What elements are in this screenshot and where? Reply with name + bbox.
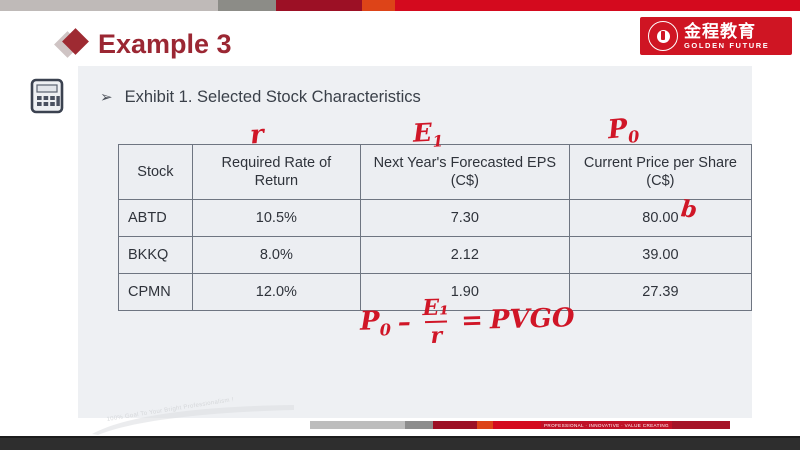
page-title: Example 3: [98, 31, 232, 58]
stock-characteristics-table: Stock Required Rate of Return Next Year'…: [118, 144, 752, 311]
arrow-bullet-icon: ➢: [100, 90, 113, 105]
table-header-row: Stock Required Rate of Return Next Year'…: [119, 145, 752, 200]
table-row: CPMN 12.0% 1.90 27.39: [119, 274, 752, 311]
bottom-black-strip: [0, 438, 800, 450]
footer-segment-dark-red: [433, 421, 477, 429]
cell-forecasted-eps: 7.30: [360, 200, 569, 237]
title-group: Example 3: [58, 29, 232, 59]
slide-footer: 100% Goal To Your Bright Professionalism…: [78, 418, 752, 438]
logo-english-name: GOLDEN FUTURE: [684, 42, 769, 50]
topbar-segment-bright-red: [395, 0, 800, 11]
table-header: Stock Required Rate of Return Next Year'…: [119, 145, 752, 200]
calculator-icon: [30, 78, 64, 114]
table-row: BKKQ 8.0% 2.12 39.00: [119, 237, 752, 274]
slide-content-panel: ➢ Exhibit 1. Selected Stock Characterist…: [78, 66, 752, 418]
cell-current-price: 27.39: [569, 274, 751, 311]
slide-canvas: Example 3 金程教育 GOLDEN FUTURE ➢ Exhi: [0, 0, 800, 450]
footer-segment-tail-red: [672, 421, 730, 429]
cell-current-price: 39.00: [569, 237, 751, 274]
footer-segment-bright-red: [493, 421, 541, 429]
top-color-bar: [0, 0, 800, 11]
cell-stock-ticker: BKKQ: [119, 237, 193, 274]
topbar-segment-orange-red: [362, 0, 395, 11]
footer-color-bar: PROFESSIONAL · INNOVATIVE · VALUE CREATI…: [310, 421, 730, 429]
logo-text-group: 金程教育 GOLDEN FUTURE: [684, 23, 769, 50]
footer-segment-light-gray: [310, 421, 405, 429]
diamond-bullet-icon: [58, 29, 88, 59]
exhibit-heading: Exhibit 1. Selected Stock Characteristic…: [125, 88, 421, 107]
column-header-forecasted-eps: Next Year's Forecasted EPS (C$): [360, 145, 569, 200]
cell-stock-ticker: ABTD: [119, 200, 193, 237]
column-header-stock: Stock: [119, 145, 193, 200]
cell-required-rate: 12.0%: [192, 274, 360, 311]
cell-required-rate: 8.0%: [192, 237, 360, 274]
table-body: ABTD 10.5% 7.30 80.00 BKKQ 8.0% 2.12 39.…: [119, 200, 752, 311]
footer-segment-mid-gray: [405, 421, 433, 429]
footer-tagline: PROFESSIONAL · INNOVATIVE · VALUE CREATI…: [541, 421, 672, 429]
cell-stock-ticker: CPMN: [119, 274, 193, 311]
table-row: ABTD 10.5% 7.30 80.00: [119, 200, 752, 237]
cell-forecasted-eps: 2.12: [360, 237, 569, 274]
topbar-segment-light-gray: [0, 0, 218, 11]
seal-icon: [648, 21, 678, 51]
footer-segment-orange: [477, 421, 493, 429]
cell-required-rate: 10.5%: [192, 200, 360, 237]
exhibit-heading-row: ➢ Exhibit 1. Selected Stock Characterist…: [100, 88, 421, 107]
cell-current-price: 80.00: [569, 200, 751, 237]
cell-forecasted-eps: 1.90: [360, 274, 569, 311]
logo-chinese-name: 金程教育: [684, 23, 769, 40]
topbar-segment-mid-gray: [218, 0, 276, 11]
topbar-segment-dark-red: [276, 0, 362, 11]
column-header-current-price: Current Price per Share (C$): [569, 145, 751, 200]
brand-logo: 金程教育 GOLDEN FUTURE: [640, 17, 792, 55]
slide-header: Example 3 金程教育 GOLDEN FUTURE: [0, 11, 800, 63]
column-header-required-rate: Required Rate of Return: [192, 145, 360, 200]
